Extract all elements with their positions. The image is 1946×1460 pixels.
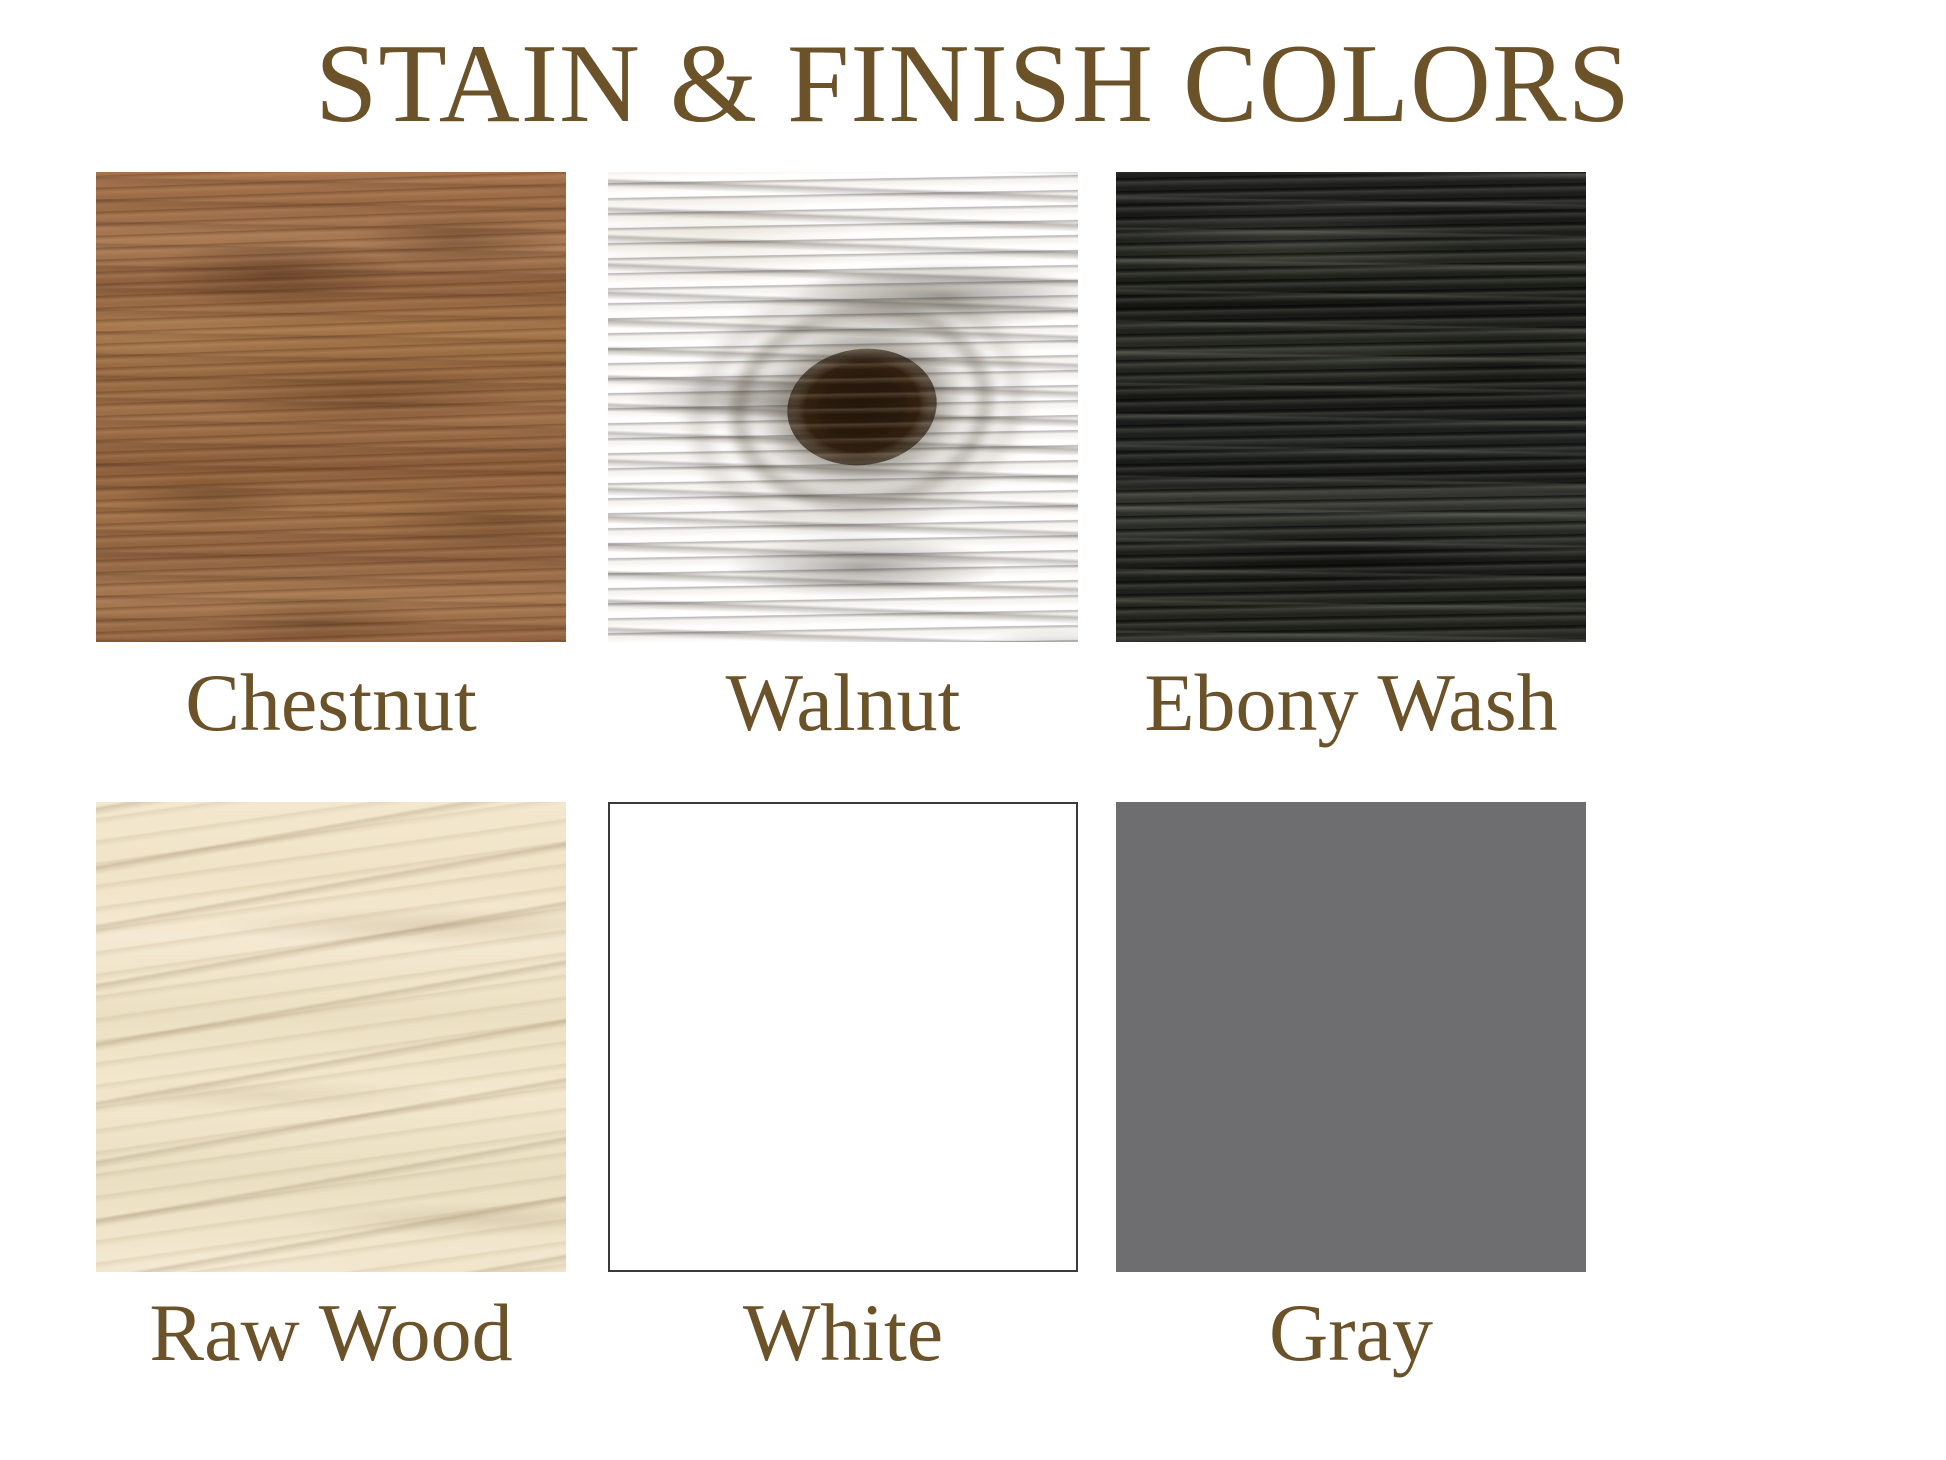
solid-fill <box>1116 802 1586 1272</box>
swatch-label-walnut: Walnut <box>590 660 1096 746</box>
swatch-item-white[interactable]: White <box>590 802 1096 1376</box>
swatch-color-raw-wood[interactable] <box>96 802 566 1272</box>
stain-finish-color-chart: STAIN & FINISH COLORS Chestnut <box>0 0 1946 1460</box>
swatch-row-1: Chestnut Walnut <box>0 172 1946 802</box>
page-title: STAIN & FINISH COLORS <box>0 28 1946 140</box>
swatch-item-raw-wood[interactable]: Raw Wood <box>78 802 584 1376</box>
swatch-item-walnut[interactable]: Walnut <box>590 172 1096 746</box>
swatch-color-ebony-wash[interactable] <box>1116 172 1586 642</box>
wood-grain-coarse <box>608 172 1078 642</box>
swatch-label-gray: Gray <box>1098 1290 1604 1376</box>
swatch-color-gray[interactable] <box>1116 802 1586 1272</box>
swatch-item-ebony-wash[interactable]: Ebony Wash <box>1098 172 1604 746</box>
swatch-item-gray[interactable]: Gray <box>1098 802 1604 1376</box>
swatch-grid: Chestnut Walnut <box>0 172 1946 1432</box>
swatch-label-chestnut: Chestnut <box>78 660 584 746</box>
swatch-color-chestnut[interactable] <box>96 172 566 642</box>
wood-grain-coarse <box>96 802 566 1272</box>
swatch-row-2: Raw Wood White Gray <box>0 802 1946 1432</box>
swatch-color-white[interactable] <box>608 802 1078 1272</box>
swatch-label-raw-wood: Raw Wood <box>78 1290 584 1376</box>
swatch-color-walnut[interactable] <box>608 172 1078 642</box>
swatch-label-white: White <box>590 1290 1096 1376</box>
wood-grain-coarse <box>1116 172 1586 642</box>
swatch-item-chestnut[interactable]: Chestnut <box>78 172 584 746</box>
swatch-label-ebony-wash: Ebony Wash <box>1098 660 1604 746</box>
wood-grain-coarse <box>96 172 566 642</box>
solid-fill <box>610 804 1076 1270</box>
